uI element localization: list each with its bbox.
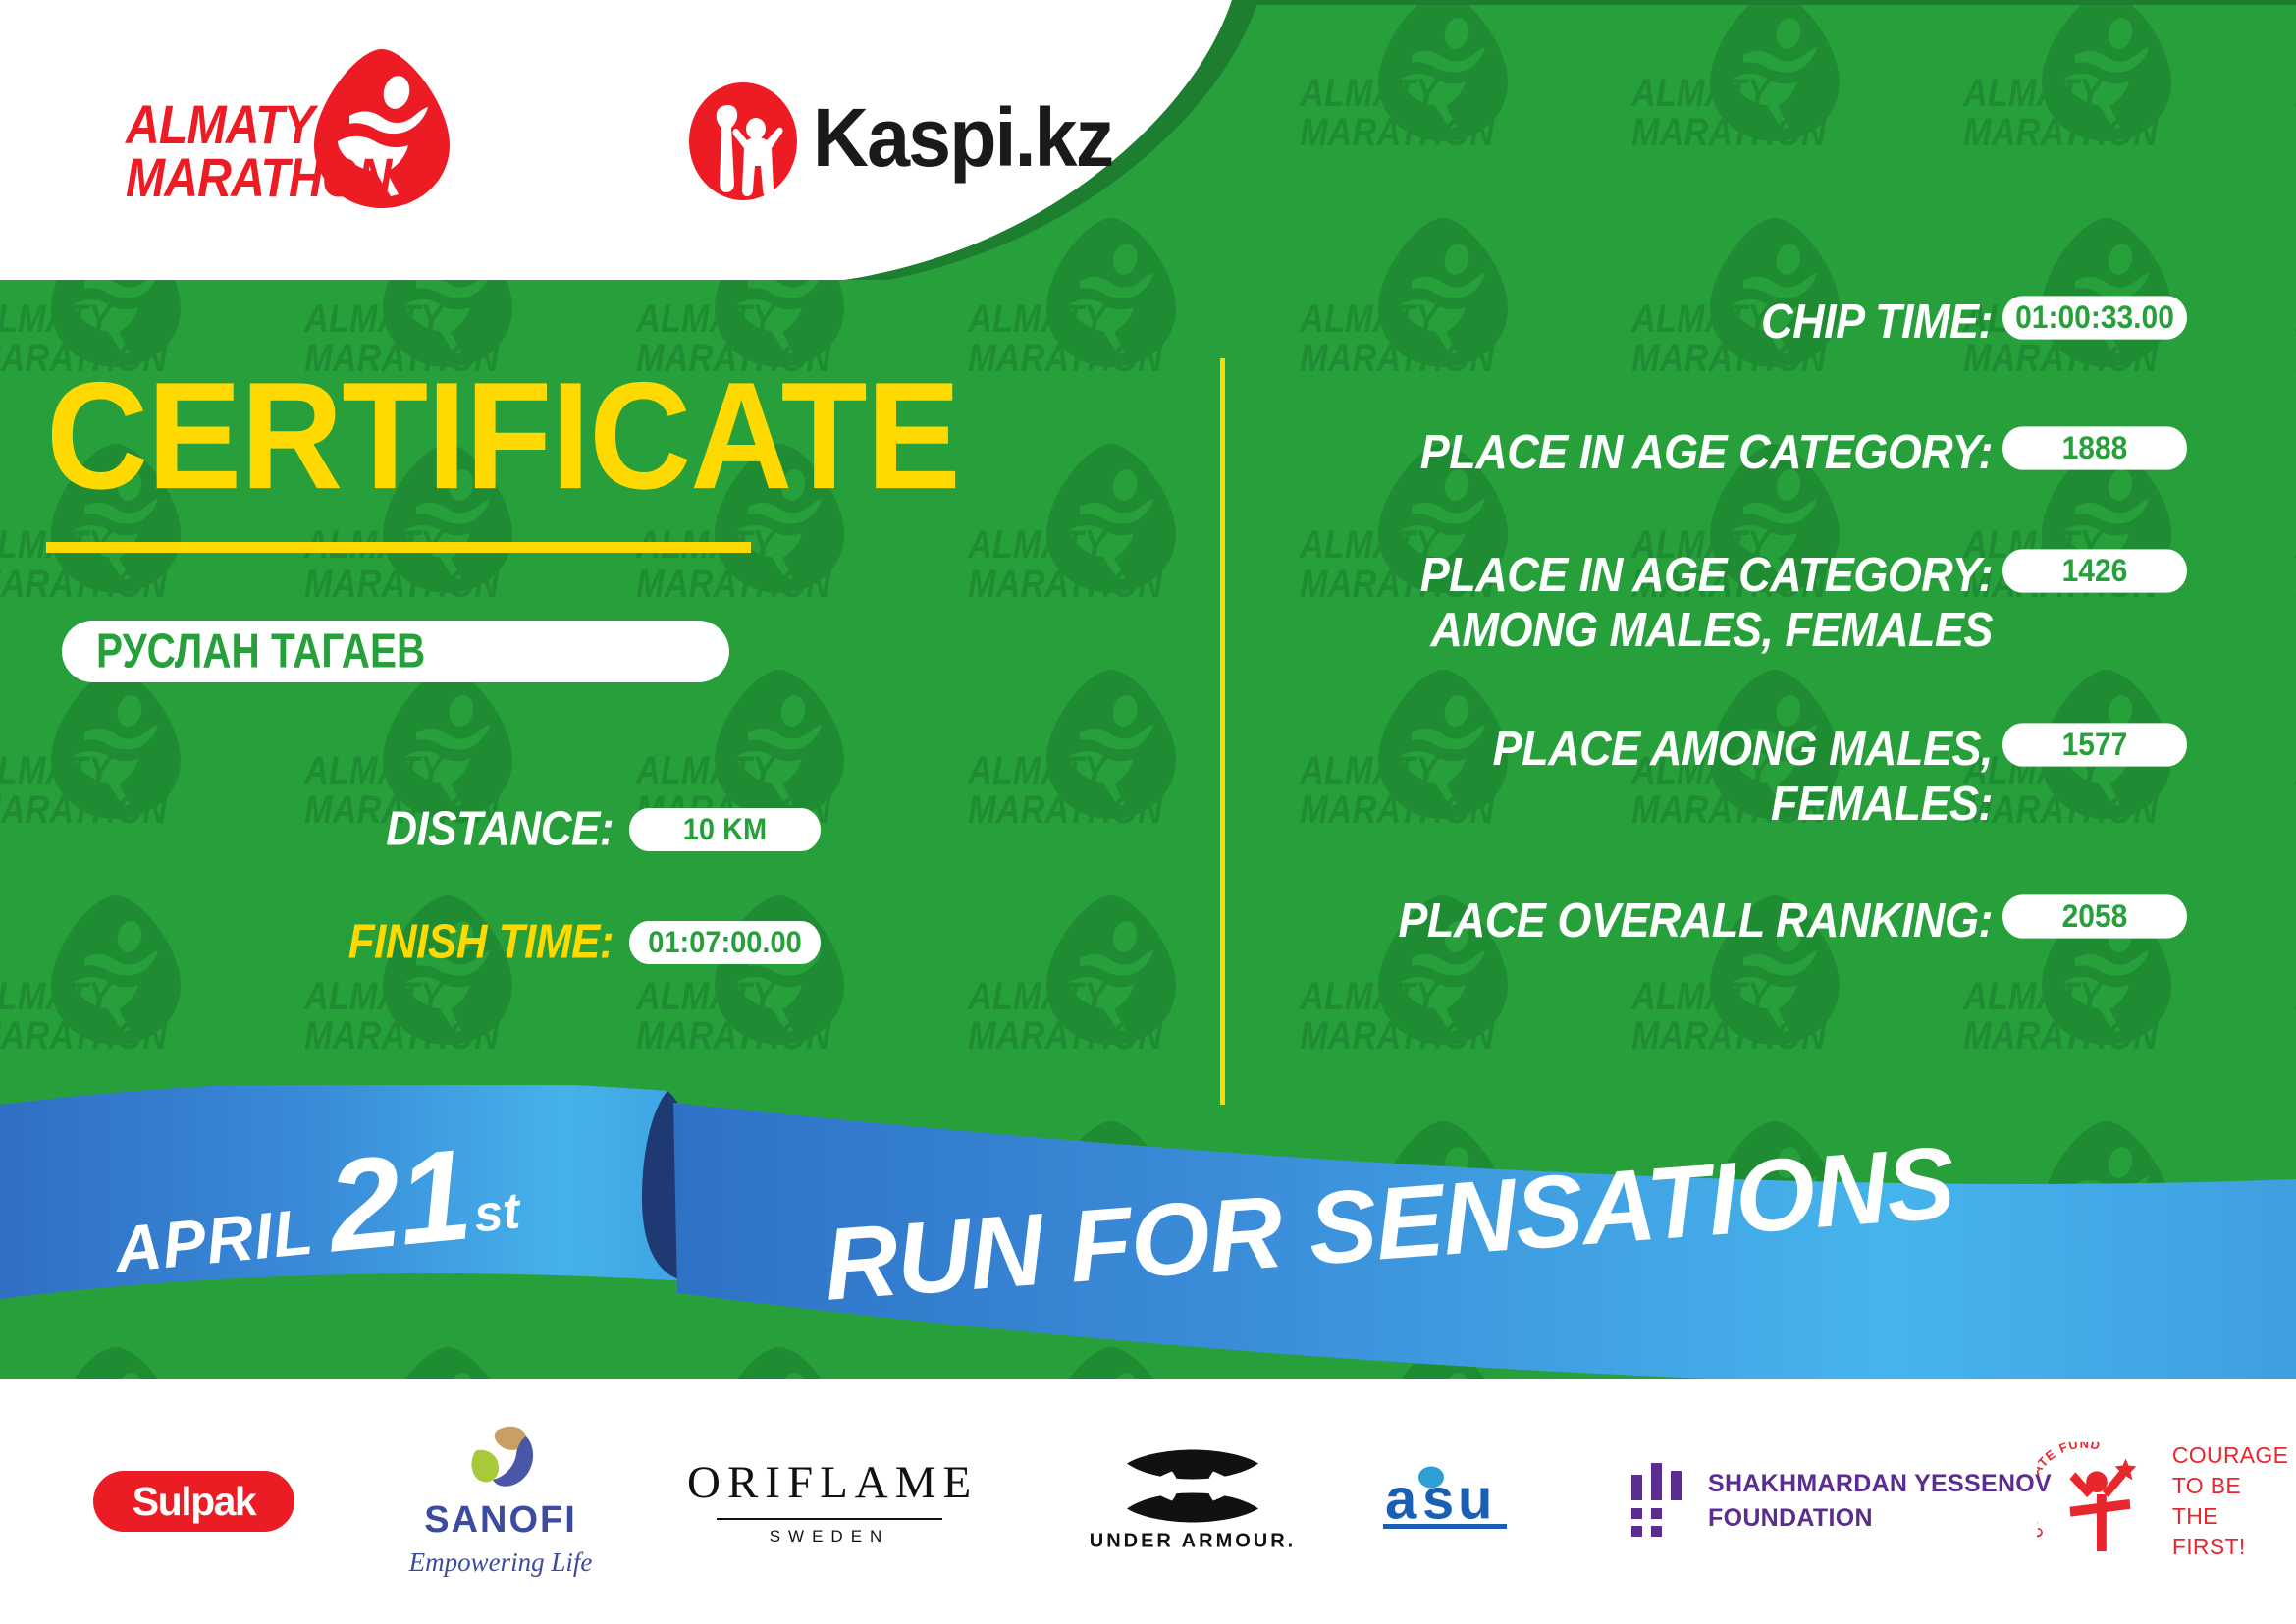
oriflame-wordmark: ORIFLAME [687,1456,972,1509]
kaspi-people-icon [687,81,800,201]
distance-row: DISTANCE: 10 KM [0,805,1041,854]
result-value: 01:00:33.00 [2002,296,2187,339]
svg-text:u: u [1458,1468,1490,1532]
yessenov-line-2: FOUNDATION [1708,1501,2052,1537]
sanofi-mark-icon [457,1425,544,1495]
oriflame-subtext: SWEDEN [687,1527,972,1546]
result-label: PLACE IN AGE CATEGORY:AMONG MALES, FEMAL… [1266,548,2002,658]
certificate-title: CERTIFICATE [46,359,960,512]
yessenov-bars-icon [1629,1461,1684,1542]
result-row-place-among-gender: PLACE AMONG MALES,FEMALES: 1577 [1266,722,2296,822]
column-divider [1220,358,1225,1105]
result-row-place-age-category-gender: PLACE IN AGE CATEGORY:AMONG MALES, FEMAL… [1266,548,2296,648]
sanofi-wordmark: SANOFI [393,1499,609,1542]
result-row-place-age-category: PLACE IN AGE CATEGORY: 1888 [1266,425,2296,475]
result-label: PLACE OVERALL RANKING: [1266,893,2002,948]
header-logo-row: ALMATY MARATHON Kaspi.kz [0,0,1227,280]
result-row-place-overall: PLACE OVERALL RANKING: 2058 [1266,893,2296,944]
courage-line-2: TO BE [2172,1471,2296,1501]
sponsor-yessenov-foundation: SHAKHMARDAN YESSENOV FOUNDATION [1629,1461,2052,1542]
result-value: 2058 [2002,894,2187,938]
distance-value: 10 KM [629,808,821,851]
courage-first-wordmark: COURAGE TO BE THE FIRST! [2172,1440,2296,1562]
athlete-name-value: РУСЛАН ТАГАЕВ [96,624,425,679]
finish-time-label: FINISH TIME: [0,915,614,970]
yessenov-wordmark: SHAKHMARDAN YESSENOV FOUNDATION [1708,1467,2052,1537]
sponsor-under-armour: UNDER ARMOUR. [1075,1450,1310,1553]
sponsor-sulpak: Sulpak [93,1471,294,1532]
sponsor-strip: Sulpak SANOFI Empowering Life ORIFLAME S… [0,1379,2296,1624]
wordmark-line-1: ALMATY [126,98,391,151]
sulpak-wordmark: Sulpak [133,1479,255,1525]
asu-logo-icon: a s u [1379,1464,1536,1535]
sponsor-corporate-fund: CORPORATE FUND COURAGE TO BE THE FIRST! [2037,1440,2296,1562]
sanofi-tagline: Empowering Life [393,1547,609,1578]
event-day-suffix: st [471,1182,522,1243]
results-column: CHIP TIME: 01:00:33.00 PLACE IN AGE CATE… [1266,295,2296,1080]
result-value: 1426 [2002,549,2187,592]
event-month: APRIL [112,1195,317,1286]
courage-line-3: THE FIRST! [2172,1501,2296,1562]
result-value: 1888 [2002,426,2187,469]
certificate-canvas: ALMATY MARATHON Kaspi.kz CERTIFICATE РУС… [0,0,2296,1624]
kaspi-logo: Kaspi.kz [687,77,1099,204]
result-label: CHIP TIME: [1266,295,2002,350]
athlete-name-field: РУСЛАН ТАГАЕВ [62,621,729,682]
courage-line-1: COURAGE [2172,1440,2296,1471]
almaty-marathon-logo: ALMATY MARATHON [126,47,450,220]
courage-first-icon: CORPORATE FUND [2037,1442,2163,1560]
under-armour-wordmark: UNDER ARMOUR. [1075,1531,1310,1553]
event-day: 21 [322,1121,475,1278]
finish-time-row: FINISH TIME: 01:07:00.00 [0,918,1041,967]
sulpak-logo: Sulpak [93,1471,294,1532]
wordmark-line-2: MARATHON [126,151,391,204]
under-armour-icon [1119,1450,1266,1523]
certificate-left-column: CERTIFICATE РУСЛАН ТАГАЕВ DISTANCE: 10 K… [0,295,1217,1041]
result-row-chip-time: CHIP TIME: 01:00:33.00 [1266,295,2296,345]
oriflame-rule [717,1518,942,1520]
result-value: 1577 [2002,723,2187,766]
sponsor-asu: a s u [1364,1464,1551,1540]
result-label: PLACE AMONG MALES,FEMALES: [1266,722,2002,832]
svg-text:a: a [1385,1468,1417,1532]
result-label: PLACE IN AGE CATEGORY: [1266,425,2002,480]
sponsor-sanofi: SANOFI Empowering Life [393,1425,609,1578]
almaty-marathon-wordmark: ALMATY MARATHON [126,98,391,204]
title-underline [46,542,751,553]
kaspi-wordmark: Kaspi.kz [813,90,1112,186]
sponsor-oriflame: ORIFLAME SWEDEN [687,1456,972,1546]
finish-time-value: 01:07:00.00 [629,921,821,964]
distance-label: DISTANCE: [0,802,614,857]
yessenov-line-1: SHAKHMARDAN YESSENOV [1708,1467,2052,1502]
